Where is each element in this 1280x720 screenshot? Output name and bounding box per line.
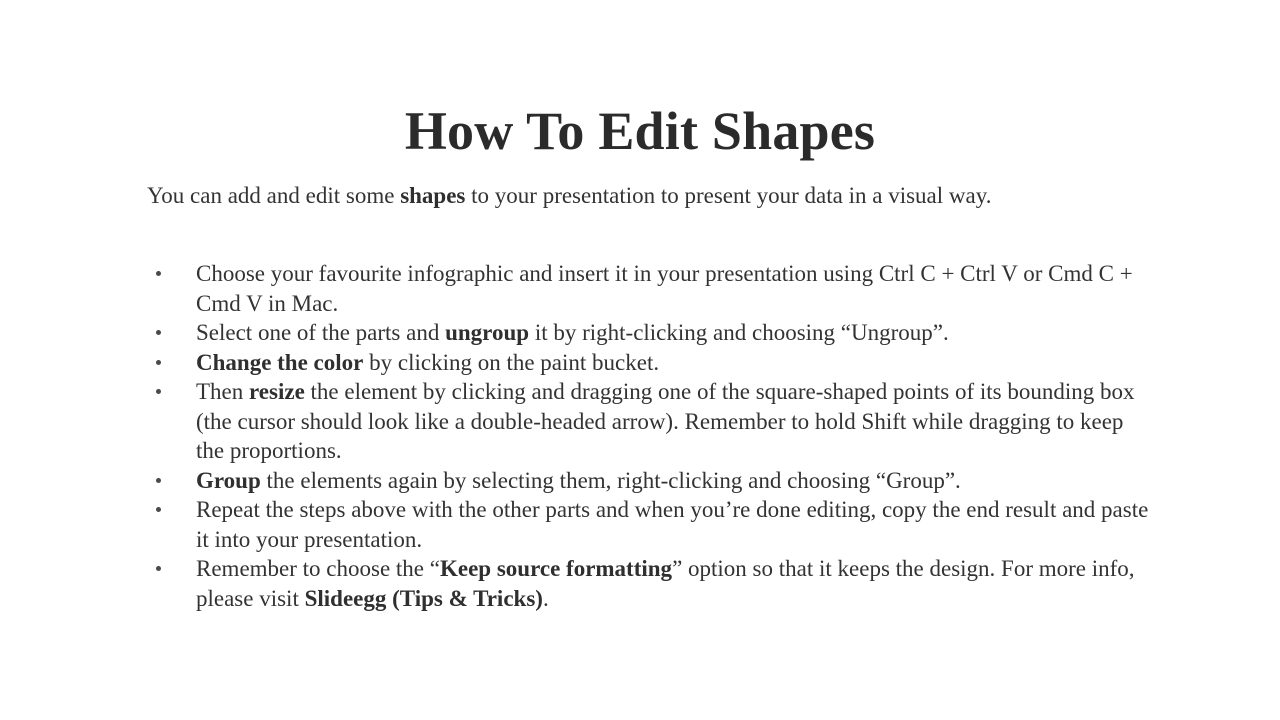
bullet-dot-icon [156, 389, 161, 394]
bullet-emphasis: resize [249, 379, 305, 404]
intro-emphasis-shapes: shapes [400, 183, 465, 208]
bullet-text-run: the elements again by selecting them, ri… [261, 468, 961, 493]
bullet-dot-icon [156, 330, 161, 335]
page-title: How To Edit Shapes [0, 98, 1280, 164]
bullet-emphasis: Slideegg (Tips & Tricks) [305, 586, 543, 611]
bullet-dot-icon [156, 566, 161, 571]
bullet-text-run: . [543, 586, 549, 611]
bullet-group: Group the elements again by selecting th… [196, 468, 961, 493]
bullet-dot-icon [156, 360, 161, 365]
bullet-text-run: Choose your favourite infographic and in… [196, 261, 1133, 316]
list-item: Choose your favourite infographic and in… [147, 259, 1157, 318]
bullet-text-run: by clicking on the paint bucket. [363, 350, 659, 375]
bullet-emphasis: Change the color [196, 350, 363, 375]
list-item: Change the color by clicking on the pain… [147, 348, 1157, 378]
bullet-insert-infographic: Choose your favourite infographic and in… [196, 261, 1133, 316]
list-item: Remember to choose the “Keep source form… [147, 554, 1157, 613]
bullet-text-run: Repeat the steps above with the other pa… [196, 497, 1148, 552]
bullet-text-run: Select one of the parts and [196, 320, 445, 345]
intro-paragraph: You can add and edit some shapes to your… [147, 181, 1147, 211]
bullet-text-run: the element by clicking and dragging one… [196, 379, 1135, 463]
list-item: Group the elements again by selecting th… [147, 466, 1157, 496]
bullet-emphasis: Group [196, 468, 261, 493]
intro-text-before: You can add and edit some [147, 183, 400, 208]
list-item: Select one of the parts and ungroup it b… [147, 318, 1157, 348]
intro-text-after: to your presentation to present your dat… [465, 183, 991, 208]
bullet-ungroup: Select one of the parts and ungroup it b… [196, 320, 949, 345]
instruction-list: Choose your favourite infographic and in… [147, 259, 1157, 613]
bullet-text-run: it by right-clicking and choosing “Ungro… [529, 320, 949, 345]
bullet-dot-icon [156, 507, 161, 512]
bullet-text-run: Remember to choose the “ [196, 556, 440, 581]
list-item: Then resize the element by clicking and … [147, 377, 1157, 466]
bullet-resize: Then resize the element by clicking and … [196, 379, 1135, 463]
list-item: Repeat the steps above with the other pa… [147, 495, 1157, 554]
bullet-emphasis: ungroup [445, 320, 529, 345]
bullet-change-color: Change the color by clicking on the pain… [196, 350, 659, 375]
bullet-dot-icon [156, 478, 161, 483]
bullet-keep-source-formatting: Remember to choose the “Keep source form… [196, 556, 1135, 611]
bullet-repeat: Repeat the steps above with the other pa… [196, 497, 1148, 552]
bullet-dot-icon [156, 271, 161, 276]
slide-canvas: How To Edit Shapes You can add and edit … [0, 0, 1280, 720]
bullet-text-run: Then [196, 379, 249, 404]
bullet-emphasis: Keep source formatting [440, 556, 672, 581]
